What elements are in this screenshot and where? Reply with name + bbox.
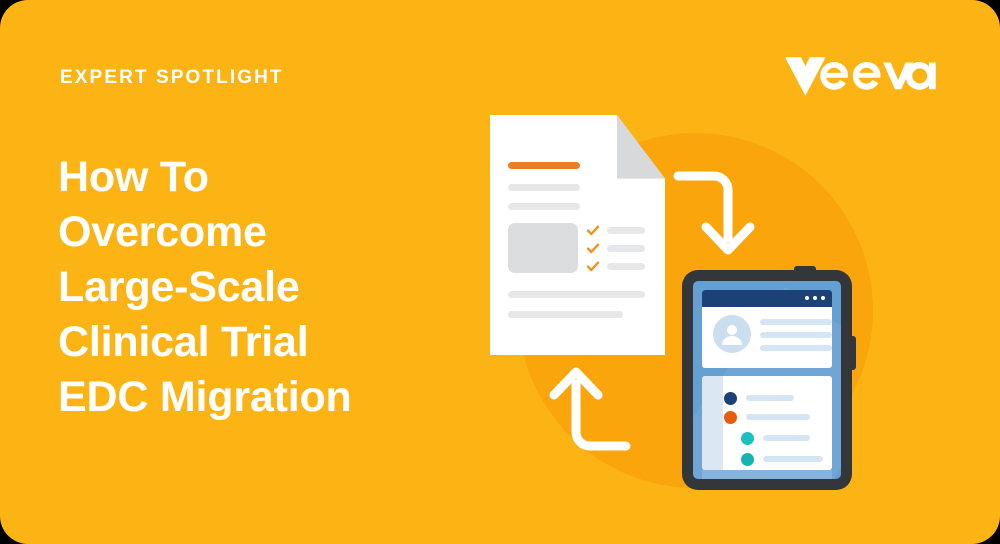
tablet-device: [682, 270, 852, 490]
window-dot-icon: [805, 296, 809, 300]
list-row-line: [763, 456, 823, 462]
headline-line-1: How To: [58, 150, 458, 205]
headline-line-3: Large-Scale: [58, 260, 458, 315]
document-text-line: [508, 311, 623, 318]
screen-bottom-shade: [702, 470, 832, 479]
headline-line-5: EDC Migration: [58, 370, 458, 425]
tablet-screen: [693, 281, 841, 479]
edc-migration-illustration: [470, 90, 890, 510]
document-image-block: [508, 223, 578, 273]
profile-text-line: [760, 345, 832, 351]
profile-card: [702, 290, 832, 368]
checkmark-icon: [587, 225, 599, 237]
document-text-line: [508, 184, 580, 191]
checkmark-icon: [587, 261, 599, 273]
document-text-line: [508, 291, 645, 298]
document-title-line: [508, 162, 580, 169]
document-checklist-line: [607, 245, 645, 252]
document-checklist-line: [607, 227, 645, 234]
paper-document-icon: [490, 115, 665, 355]
window-title-bar: [702, 290, 832, 307]
eyebrow-label: EXPERT SPOTLIGHT: [60, 68, 284, 87]
arrow-down-curved-icon: [670, 168, 756, 260]
profile-text-line: [760, 332, 832, 338]
list-side-panel: [702, 376, 723, 470]
document-checklist-line: [607, 263, 645, 270]
checkmark-icon: [587, 243, 599, 255]
profile-text-line: [760, 319, 832, 325]
list-row-dot: [741, 432, 754, 445]
document-text-line: [508, 203, 580, 210]
headline-line-4: Clinical Trial: [58, 315, 458, 370]
document-folded-corner: [617, 115, 665, 179]
list-row-line: [746, 395, 794, 401]
list-card: [702, 376, 832, 470]
list-row-dot: [741, 453, 754, 466]
promo-card: EXPERT SPOTLIGHT How To Overcome Large-S…: [0, 0, 1000, 544]
avatar: [713, 315, 751, 353]
window-dot-icon: [821, 296, 825, 300]
list-row-line: [763, 435, 810, 441]
veeva-logo: [784, 44, 944, 96]
headline-line-2: Overcome: [58, 205, 458, 260]
list-row-dot: [724, 411, 737, 424]
window-dot-icon: [813, 296, 817, 300]
arrow-up-curved-icon: [548, 362, 634, 454]
list-row-line: [746, 414, 810, 420]
window-controls-dots: [805, 296, 825, 300]
list-row-dot: [724, 392, 737, 405]
page-title: How To Overcome Large-Scale Clinical Tri…: [58, 150, 458, 425]
